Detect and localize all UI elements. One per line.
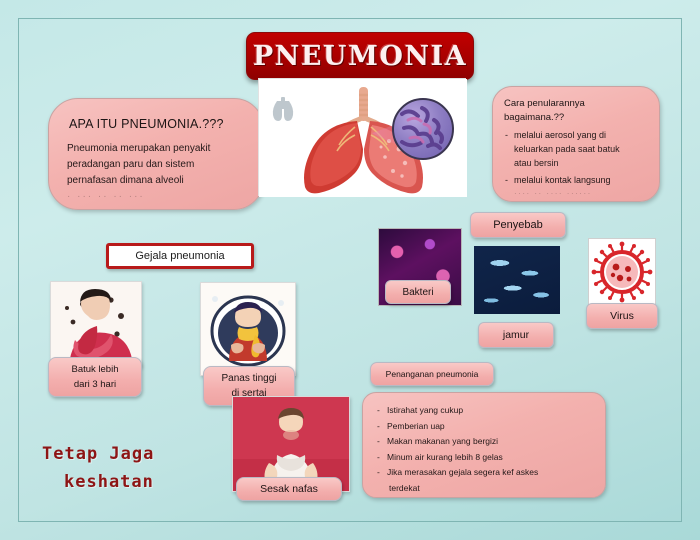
health-slogan: Tetap Jaga keshatan	[42, 440, 242, 496]
slogan-line-1: Tetap Jaga	[42, 440, 242, 468]
causes-section-label: Penyebab	[470, 212, 566, 238]
transmission-heading-line-1: Cara penularannya	[504, 97, 648, 111]
transmission-item-2-cont: ···· ·· ···· ······	[504, 187, 648, 201]
treatment-item-1: Istirahat yang cukup	[375, 403, 593, 419]
treatment-panel: Istirahat yang cukup Pemberian uap Makan…	[362, 392, 606, 498]
treatment-item-5: Jika merasakan gejala segera kef askes	[375, 465, 593, 481]
poster-title: PNEUMONIA	[253, 41, 467, 72]
coughing-illustration	[51, 282, 141, 366]
transmission-item-1-cont2: atau bersin	[504, 156, 648, 170]
fever-chills-illustration	[201, 283, 295, 375]
transmission-panel: Cara penularannya bagaimana.?? melalui a…	[492, 86, 660, 202]
cause-label-bakteri: Bakteri	[385, 280, 451, 304]
symptom-cough-line-1: Batuk lebih	[71, 362, 118, 377]
person-with-scarf-photo	[200, 282, 296, 376]
about-heading: APA ITU PNEUMONIA.???	[69, 117, 249, 131]
poster-title-banner: PNEUMONIA	[246, 32, 474, 80]
virus-icon	[589, 239, 655, 305]
symptom-label-cough: Batuk lebih dari 3 hari	[48, 357, 142, 397]
transmission-item-1: melalui aerosol yang di	[504, 128, 648, 142]
symptoms-section-label: Gejala pneumonia	[106, 243, 254, 269]
person-coughing-photo	[50, 281, 142, 367]
cause-bakteri-text: Bakteri	[402, 287, 433, 298]
cause-jamur-text: jamur	[503, 329, 529, 341]
cause-virus-text: Virus	[610, 310, 634, 322]
treatment-item-2: Pemberian uap	[375, 419, 593, 435]
transmission-item-2: melalui kontak langsung	[504, 173, 648, 187]
treatment-section-label-text: Penanganan pneumonia	[386, 369, 479, 379]
about-body-line-4: · ··· ·· ·· ···	[67, 189, 249, 205]
transmission-list-2: melalui kontak langsung	[504, 173, 648, 187]
magnified-bacteria-circle	[392, 98, 454, 160]
symptom-breath-text: Sesak nafas	[260, 483, 318, 495]
treatment-item-5-cont: terdekat	[375, 481, 593, 497]
treatment-list: Istirahat yang cukup Pemberian uap Makan…	[375, 403, 593, 481]
fungus-microscope-photo	[474, 246, 560, 314]
bacteria-cluster-icon	[394, 100, 452, 158]
about-pneumonia-panel: APA ITU PNEUMONIA.??? Pneumonia merupaka…	[48, 98, 264, 210]
symptoms-section-label-text: Gejala pneumonia	[135, 250, 224, 262]
cause-label-jamur: jamur	[478, 322, 554, 348]
slogan-line-2: keshatan	[64, 468, 242, 496]
transmission-item-1-cont: keluarkan pada saat batuk	[504, 142, 648, 156]
about-body-line-2: peradangan paru dan sistem	[67, 157, 249, 173]
transmission-heading-line-2: bagaimana.??	[504, 111, 648, 125]
pneumonia-infographic-poster: PNEUMONIA APA ITU PNEUMONIA.??? Pneumoni…	[0, 0, 700, 540]
symptom-label-breath: Sesak nafas	[236, 477, 342, 501]
about-body-line-1: Pneumonia merupakan penyakit	[67, 141, 249, 157]
transmission-list: melalui aerosol yang di	[504, 128, 648, 142]
symptom-fever-line-1: Panas tinggi	[221, 371, 276, 386]
treatment-item-3: Makan makanan yang bergizi	[375, 434, 593, 450]
virus-illustration	[588, 238, 656, 306]
treatment-item-4: Minum air kurang lebih 8 gelas	[375, 450, 593, 466]
treatment-section-label: Penanganan pneumonia	[370, 362, 494, 386]
symptom-cough-line-2: dari 3 hari	[74, 377, 116, 392]
causes-section-label-text: Penyebab	[493, 219, 543, 231]
cause-label-virus: Virus	[586, 303, 658, 329]
about-body-line-3: pernafasan dimana alveoli	[67, 173, 249, 189]
